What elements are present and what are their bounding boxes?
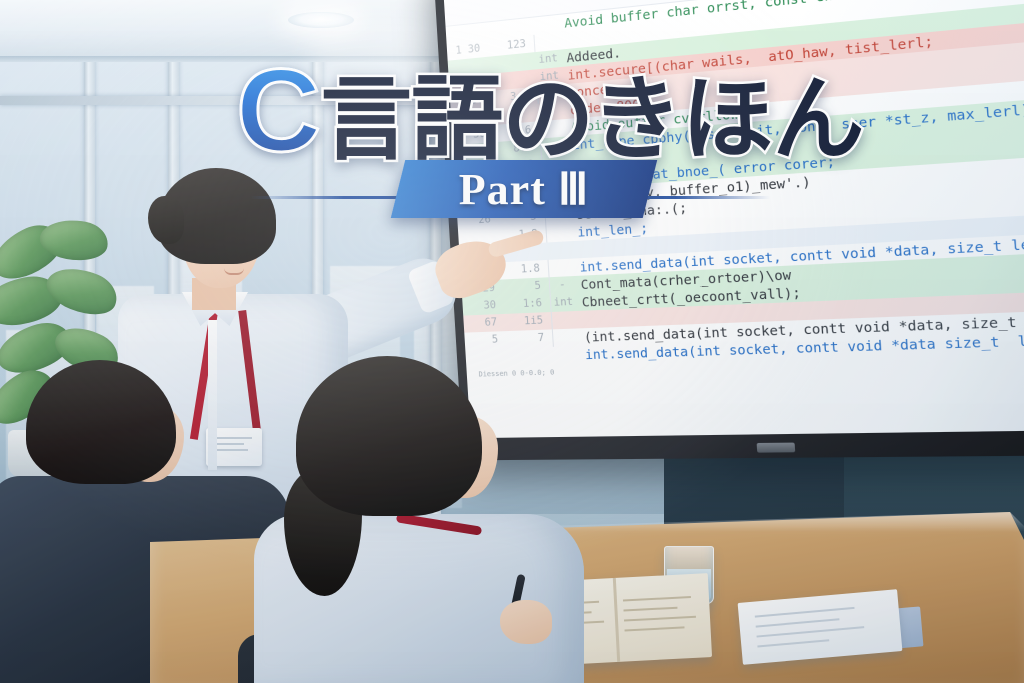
line-number-old: 30 (450, 91, 490, 112)
attendee-right-hair (296, 356, 482, 516)
instructor-hair (158, 168, 276, 264)
diff-marker (548, 259, 572, 260)
code-row-list[interactable]: Avoid buffer char orrst, const chect, si… (446, 0, 1024, 367)
attendee-left-hair (26, 360, 176, 484)
line-number-new: 1:6 (502, 295, 552, 314)
line-number-old: 26 (457, 211, 497, 231)
attendee-right-hand (500, 600, 552, 644)
line-number-old: 5 (464, 331, 504, 350)
diff-marker: 1s3 (538, 84, 563, 103)
line-number-old: 30 (462, 297, 502, 316)
line-number-new: 5 (500, 277, 550, 297)
display-brand-badge (757, 443, 796, 453)
line-number-new: 7 (504, 329, 554, 348)
diff-marker (547, 241, 571, 242)
diff-marker: - (550, 276, 576, 295)
diff-marker: - (545, 206, 571, 225)
diff-marker: int (551, 294, 577, 312)
attendee-right-figure (268, 356, 598, 683)
line-number-old: 50 (453, 142, 493, 162)
diff-marker (553, 328, 577, 329)
line-number-old: 67 (463, 314, 503, 333)
poster-image: Avoid buffer char orrst, const chect, si… (0, 0, 1024, 683)
line-number-new: 1i5 (503, 312, 553, 331)
diff-marker: - (544, 189, 569, 208)
diff-marker (554, 346, 579, 347)
